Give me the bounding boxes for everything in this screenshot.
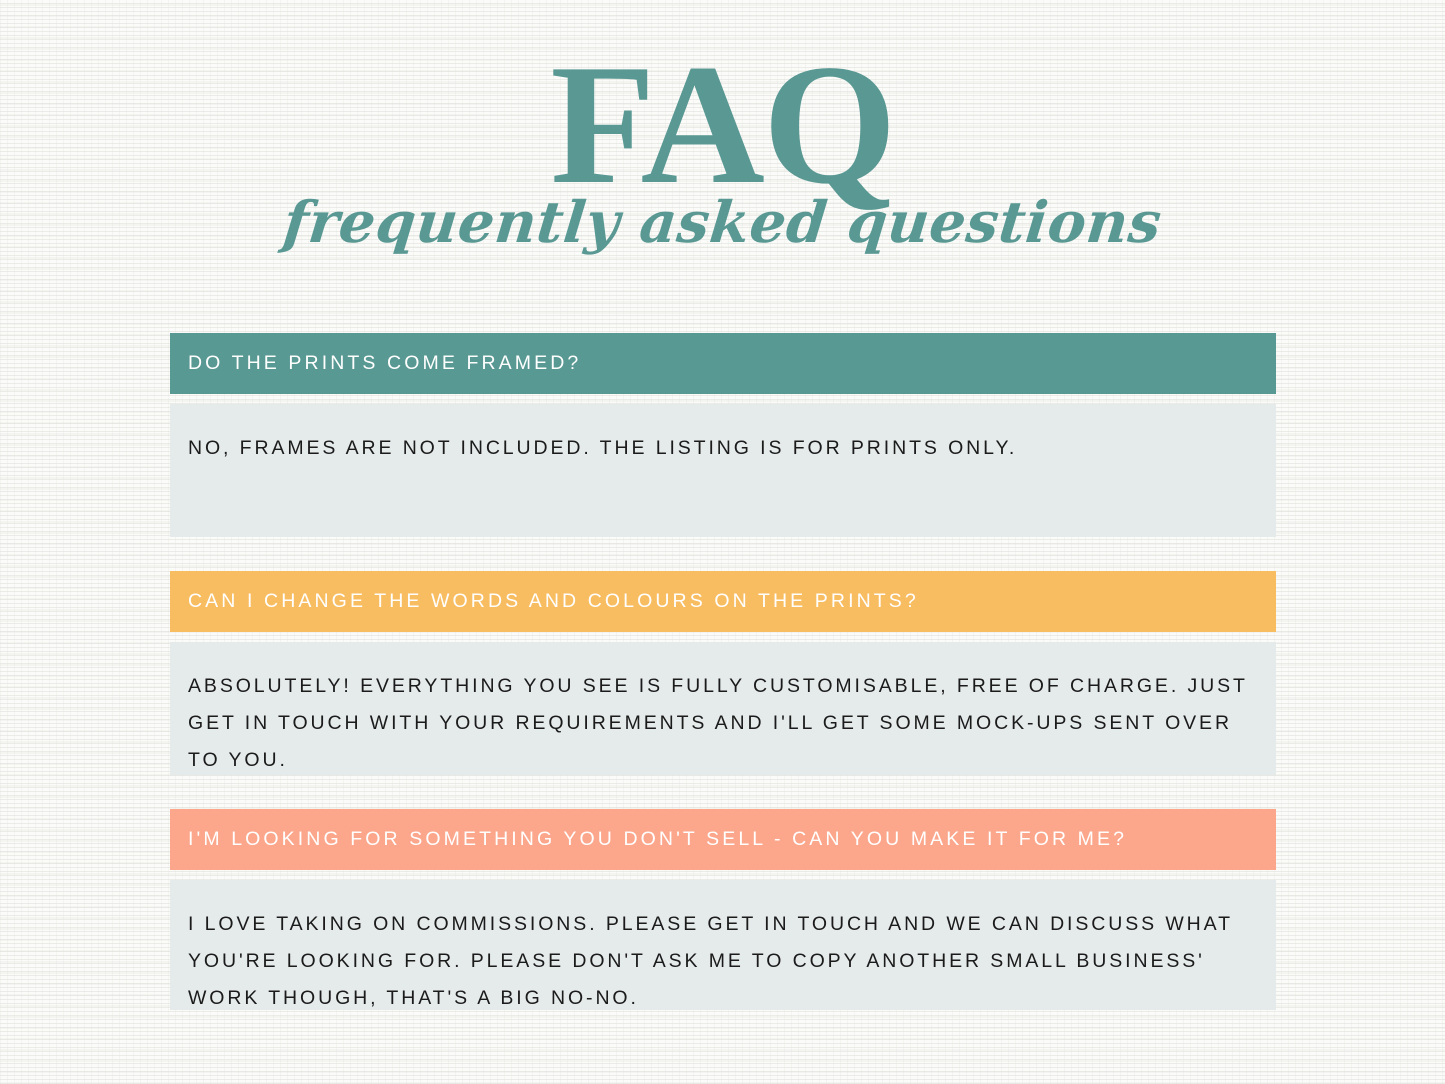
question-bar-1[interactable]: DO THE PRINTS COME FRAMED? [170, 333, 1276, 394]
faq-item-2: CAN I CHANGE THE WORDS AND COLOURS ON TH… [170, 571, 1276, 775]
faq-list: DO THE PRINTS COME FRAMED? NO, FRAMES AR… [170, 333, 1276, 1010]
faq-item-1: DO THE PRINTS COME FRAMED? NO, FRAMES AR… [170, 333, 1276, 537]
question-bar-3[interactable]: I'M LOOKING FOR SOMETHING YOU DON'T SELL… [170, 809, 1276, 870]
faq-page: FAQ frequently asked questions DO THE PR… [0, 0, 1445, 1084]
page-subtitle: frequently asked questions [0, 194, 1445, 251]
faq-item-3: I'M LOOKING FOR SOMETHING YOU DON'T SELL… [170, 809, 1276, 1010]
answer-text-3: I LOVE TAKING ON COMMISSIONS. PLEASE GET… [188, 906, 1258, 1017]
question-text-1: DO THE PRINTS COME FRAMED? [188, 352, 581, 375]
question-text-3: I'M LOOKING FOR SOMETHING YOU DON'T SELL… [188, 828, 1127, 851]
question-text-2: CAN I CHANGE THE WORDS AND COLOURS ON TH… [188, 590, 919, 613]
answer-text-1: NO, FRAMES ARE NOT INCLUDED. THE LISTING… [188, 430, 1258, 467]
answer-text-2: ABSOLUTELY! EVERYTHING YOU SEE IS FULLY … [188, 668, 1258, 779]
answer-box-1: NO, FRAMES ARE NOT INCLUDED. THE LISTING… [170, 404, 1276, 537]
question-bar-2[interactable]: CAN I CHANGE THE WORDS AND COLOURS ON TH… [170, 571, 1276, 632]
page-title: FAQ [0, 46, 1445, 204]
page-header: FAQ frequently asked questions [0, 0, 1445, 251]
answer-box-2: ABSOLUTELY! EVERYTHING YOU SEE IS FULLY … [170, 642, 1276, 775]
answer-box-3: I LOVE TAKING ON COMMISSIONS. PLEASE GET… [170, 880, 1276, 1010]
